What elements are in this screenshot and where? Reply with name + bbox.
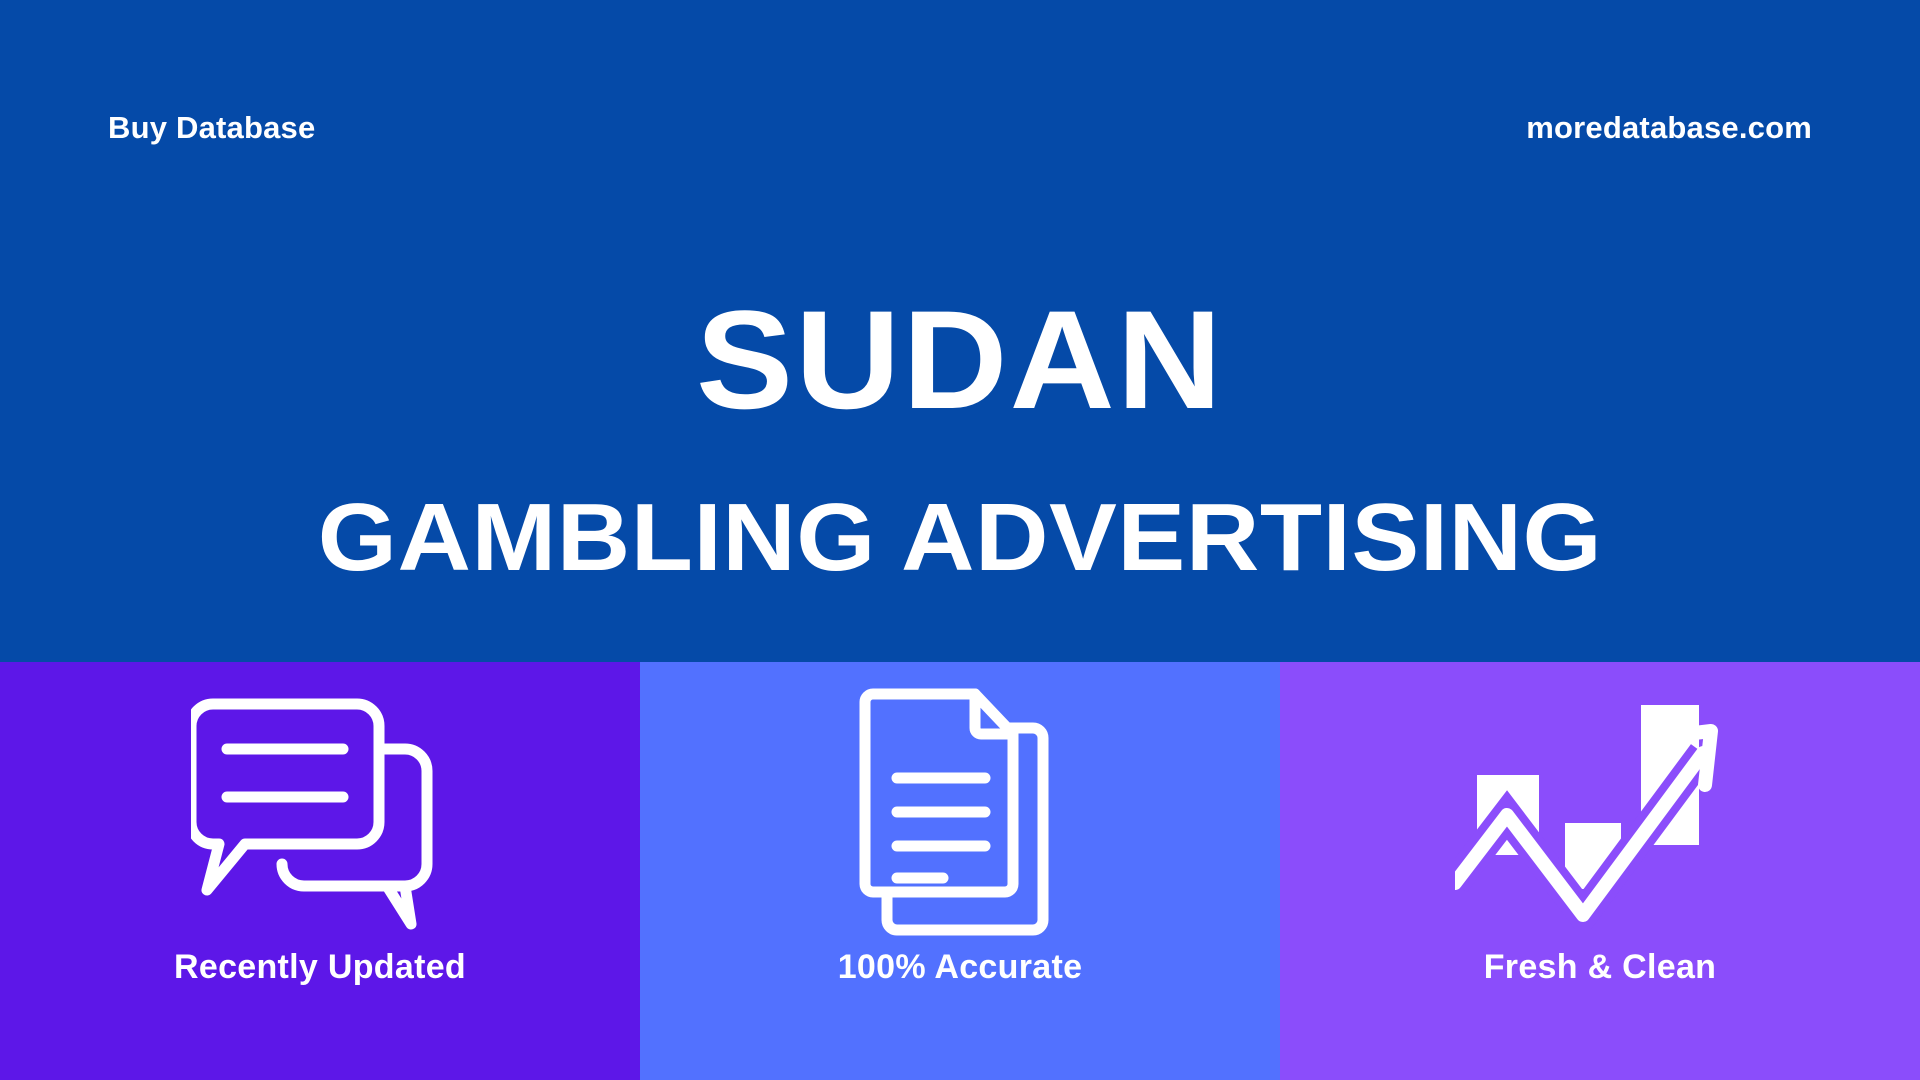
feature-label: Recently Updated bbox=[174, 948, 466, 987]
feature-label: Fresh & Clean bbox=[1484, 948, 1717, 987]
feature-label: 100% Accurate bbox=[838, 948, 1083, 987]
feature-panel-fresh-clean: Fresh & Clean bbox=[1280, 662, 1920, 1080]
banner-header: Buy Database moredatabase.com SUDAN GAMB… bbox=[0, 0, 1920, 662]
website-label: moredatabase.com bbox=[1526, 110, 1812, 146]
category-title: GAMBLING ADVERTISING bbox=[0, 490, 1920, 586]
country-title: SUDAN bbox=[0, 290, 1920, 430]
feature-panels: Recently Updated 100% Acc bbox=[0, 662, 1920, 1080]
brand-label: Buy Database bbox=[108, 110, 315, 146]
feature-panel-accurate: 100% Accurate bbox=[640, 662, 1280, 1080]
title-block: SUDAN GAMBLING ADVERTISING bbox=[0, 290, 1920, 586]
chat-bubbles-icon bbox=[191, 682, 449, 944]
growth-chart-icon bbox=[1455, 682, 1745, 944]
promo-banner: Buy Database moredatabase.com SUDAN GAMB… bbox=[0, 0, 1920, 1080]
document-pages-icon bbox=[857, 682, 1063, 944]
feature-panel-recently-updated: Recently Updated bbox=[0, 662, 640, 1080]
